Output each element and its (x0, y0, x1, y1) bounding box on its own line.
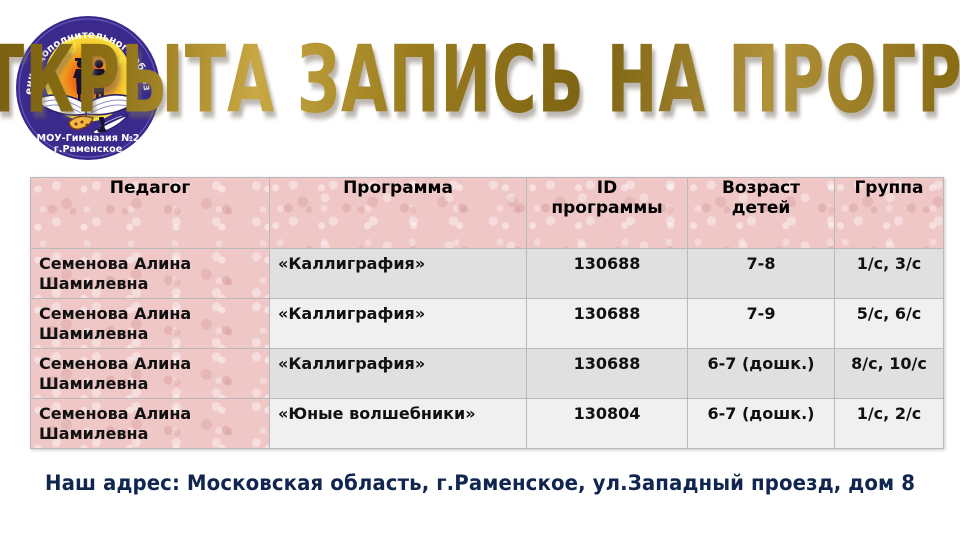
cell-program-id-text: 130688 (527, 299, 687, 324)
cell-group-text: 1/с, 2/с (835, 399, 943, 424)
headline-banner: ОТКРЫТА ЗАПИСЬ НА ПРОГРАММЫ (176, 22, 951, 138)
cell-teacher-text: Семенова Алина Шамилевна (31, 299, 269, 345)
cell-age: 6-7 (дошк.) (688, 399, 835, 449)
cell-program: «Каллиграфия» (270, 299, 527, 349)
cell-teacher-text: Семенова Алина Шамилевна (31, 399, 269, 445)
cell-teacher: Семенова Алина Шамилевна (31, 299, 270, 349)
cell-program-id-text: 130804 (527, 399, 687, 424)
headline-text: ОТКРЫТА ЗАПИСЬ НА ПРОГРАММЫ (0, 34, 960, 127)
cell-group: 8/с, 10/с (835, 349, 944, 399)
cell-age-text: 7-8 (688, 249, 834, 274)
cell-program: «Каллиграфия» (270, 349, 527, 399)
cell-group: 1/с, 3/с (835, 249, 944, 299)
cell-age: 7-9 (688, 299, 835, 349)
cell-program-id: 130688 (527, 349, 688, 399)
column-header-age-line1: Возраст (688, 178, 834, 198)
cell-group: 5/с, 6/с (835, 299, 944, 349)
cell-group-text: 8/с, 10/с (835, 349, 943, 374)
table-row: Семенова Алина Шамилевна «Каллиграфия» 1… (31, 349, 944, 399)
cell-teacher: Семенова Алина Шамилевна (31, 399, 270, 449)
table-body: Семенова Алина Шамилевна «Каллиграфия» 1… (31, 249, 944, 449)
column-header-program-id: ID программы (527, 178, 688, 249)
table-row: Семенова Алина Шамилевна «Каллиграфия» 1… (31, 299, 944, 349)
cell-program-id-text: 130688 (527, 349, 687, 374)
cell-program-text: «Каллиграфия» (270, 299, 526, 324)
cell-group-text: 5/с, 6/с (835, 299, 943, 324)
table-header: Педагог Программа ID программы Возраст д… (31, 178, 944, 249)
cell-program-id-text: 130688 (527, 249, 687, 274)
logo-school-name: МОУ-Гимназия №2 (37, 133, 140, 144)
column-header-group: Группа (835, 178, 944, 249)
cell-program-id: 130688 (527, 249, 688, 299)
cell-teacher: Семенова Алина Шамилевна (31, 349, 270, 399)
table-header-row: Педагог Программа ID программы Возраст д… (31, 178, 944, 249)
logo-city: г.Раменское (54, 144, 123, 155)
column-header-program-id-line2: программы (527, 198, 687, 218)
cell-teacher-text: Семенова Алина Шамилевна (31, 249, 269, 295)
table-row: Семенова Алина Шамилевна «Юные волшебник… (31, 399, 944, 449)
table-row: Семенова Алина Шамилевна «Каллиграфия» 1… (31, 249, 944, 299)
cell-program: «Каллиграфия» (270, 249, 527, 299)
cell-group: 1/с, 2/с (835, 399, 944, 449)
cell-program-text: «Каллиграфия» (270, 349, 526, 374)
column-header-program: Программа (270, 178, 527, 249)
cell-age-text: 6-7 (дошк.) (688, 399, 834, 424)
cell-program-text: «Каллиграфия» (270, 249, 526, 274)
column-header-teacher: Педагог (31, 178, 270, 249)
cell-teacher: Семенова Алина Шамилевна (31, 249, 270, 299)
cell-group-text: 1/с, 3/с (835, 249, 943, 274)
cell-age: 6-7 (дошк.) (688, 349, 835, 399)
cell-program-text: «Юные волшебники» (270, 399, 526, 424)
programs-table: Педагог Программа ID программы Возраст д… (30, 177, 944, 449)
cell-program-id: 130688 (527, 299, 688, 349)
column-header-program-id-line1: ID (527, 178, 687, 198)
column-header-age-line2: детей (688, 198, 834, 218)
cell-age: 7-8 (688, 249, 835, 299)
address-footer: Наш адрес: Московская область, г.Раменск… (29, 471, 931, 495)
cell-teacher-text: Семенова Алина Шамилевна (31, 349, 269, 395)
column-header-age: Возраст детей (688, 178, 835, 249)
cell-program-id: 130804 (527, 399, 688, 449)
cell-program: «Юные волшебники» (270, 399, 527, 449)
cell-age-text: 6-7 (дошк.) (688, 349, 834, 374)
cell-age-text: 7-9 (688, 299, 834, 324)
